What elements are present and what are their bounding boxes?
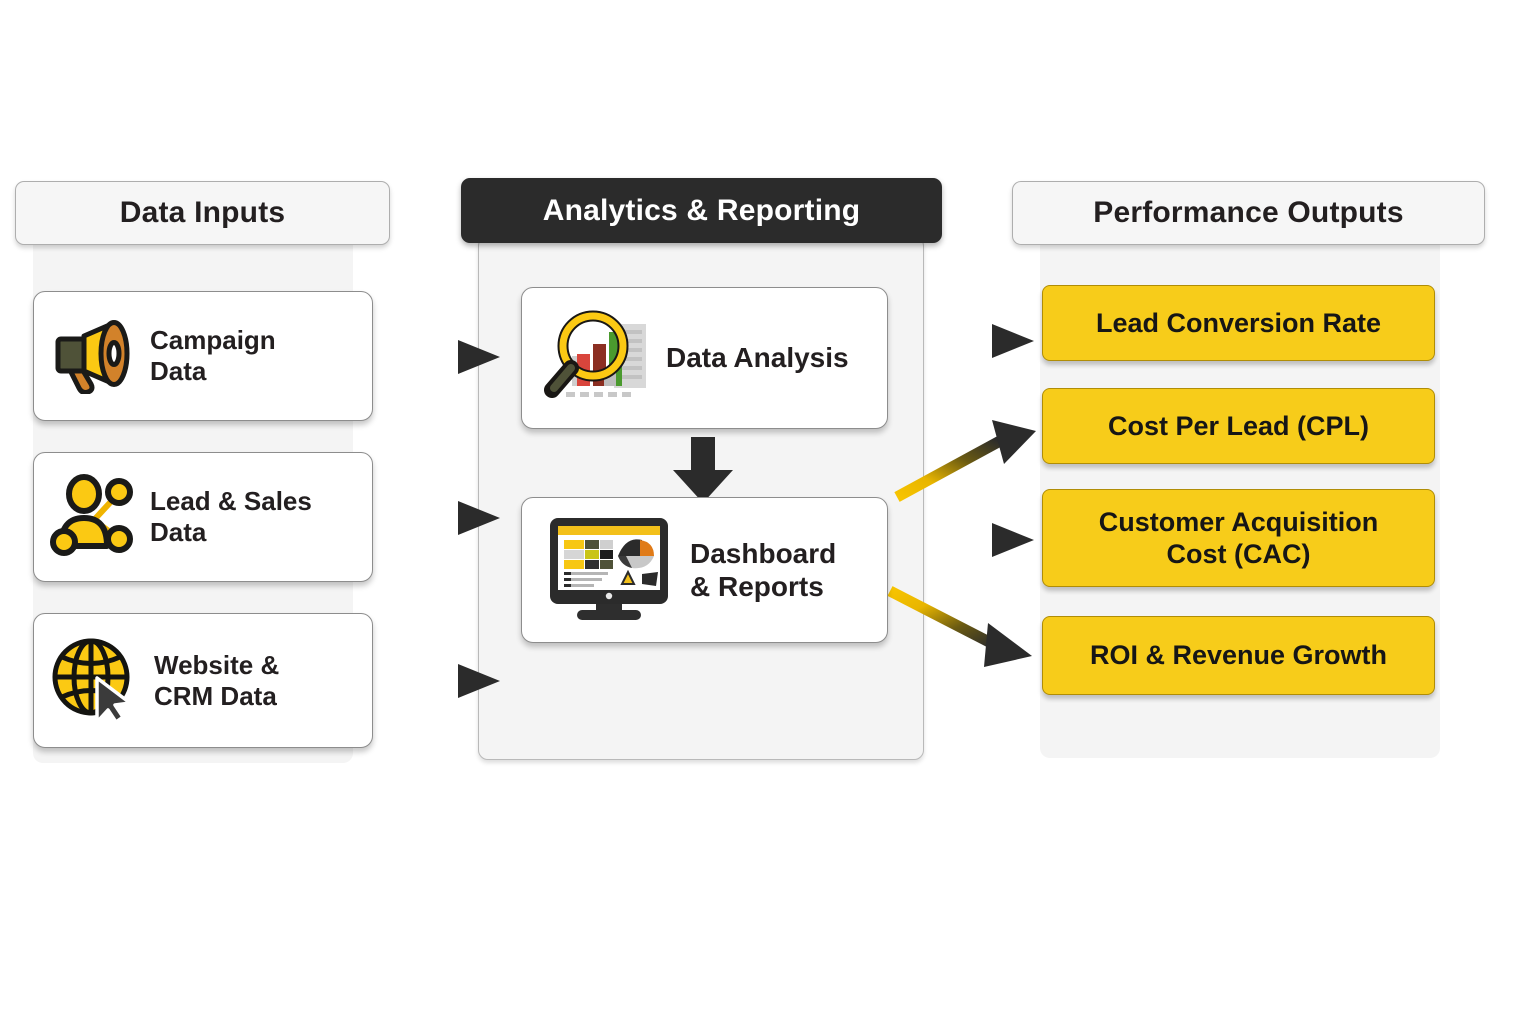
output-pill-lead-conversion-rate[interactable]: Lead Conversion Rate: [1042, 285, 1435, 361]
card-label-line1: Dashboard: [690, 538, 836, 569]
diagram-canvas: Data Inputs Analytics & Reporting Perfor…: [0, 0, 1536, 1024]
output-pill-roi-revenue-growth[interactable]: ROI & Revenue Growth: [1042, 616, 1435, 695]
output-label-line2: Cost (CAC): [1167, 539, 1311, 569]
output-pill-cost-per-lead[interactable]: Cost Per Lead (CPL): [1042, 388, 1435, 464]
card-label-line2: & Reports: [690, 571, 824, 602]
card-label: Lead & Sales Data: [150, 486, 312, 547]
output-label-line1: ROI & Revenue Growth: [1090, 640, 1387, 670]
column-header-analytics-reporting: Analytics & Reporting: [461, 178, 942, 243]
card-label: Campaign Data: [150, 325, 276, 386]
card-label-line1: Website &: [154, 650, 279, 680]
card-label: Data Analysis: [666, 341, 849, 374]
card-label: Website & CRM Data: [154, 650, 279, 711]
people-network-icon: [50, 474, 136, 561]
card-campaign-data[interactable]: Campaign Data: [33, 291, 373, 421]
card-label: Dashboard & Reports: [690, 537, 836, 603]
output-label: Customer Acquisition Cost (CAC): [1099, 506, 1379, 571]
output-label: Lead Conversion Rate: [1096, 307, 1381, 339]
megaphone-icon: [50, 314, 136, 399]
card-label-line1: Campaign: [150, 325, 276, 355]
card-website-crm-data[interactable]: Website & CRM Data: [33, 613, 373, 748]
monitor-dashboard-icon: [544, 512, 676, 629]
output-label-line1: Cost Per Lead (CPL): [1108, 411, 1369, 441]
output-label: Cost Per Lead (CPL): [1108, 410, 1369, 442]
output-label-line1: Lead Conversion Rate: [1096, 308, 1381, 338]
card-lead-sales-data[interactable]: Lead & Sales Data: [33, 452, 373, 582]
column-header-performance-outputs: Performance Outputs: [1012, 181, 1485, 245]
card-dashboard-reports[interactable]: Dashboard & Reports: [521, 497, 888, 643]
card-data-analysis[interactable]: Data Analysis: [521, 287, 888, 429]
card-label-line1: Data Analysis: [666, 342, 849, 373]
output-label-line1: Customer Acquisition: [1099, 507, 1379, 537]
card-label-line2: Data: [150, 356, 206, 386]
card-label-line1: Lead & Sales: [150, 486, 312, 516]
card-label-line2: Data: [150, 517, 206, 547]
magnifier-barchart-icon: [544, 306, 652, 411]
output-pill-customer-acquisition-cost[interactable]: Customer Acquisition Cost (CAC): [1042, 489, 1435, 587]
column-header-data-inputs: Data Inputs: [15, 181, 390, 245]
globe-cursor-icon: [50, 634, 140, 727]
card-label-line2: CRM Data: [154, 681, 277, 711]
output-label: ROI & Revenue Growth: [1090, 639, 1387, 671]
